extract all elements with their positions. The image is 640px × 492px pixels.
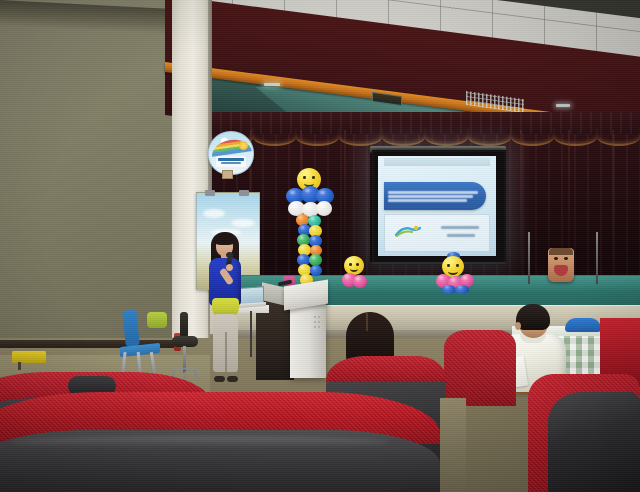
smiley-mouth bbox=[350, 266, 358, 272]
floor-object-leg bbox=[18, 362, 21, 370]
balloon-column bbox=[286, 168, 334, 293]
slide-header-bar bbox=[384, 158, 490, 166]
balloon-figure-right bbox=[436, 252, 478, 296]
poster-clip bbox=[239, 190, 249, 196]
balloon-basket bbox=[222, 170, 233, 179]
podium-vent bbox=[314, 316, 316, 318]
curtain-fold bbox=[612, 130, 614, 295]
presenter bbox=[196, 232, 254, 382]
stool-back bbox=[180, 312, 188, 338]
slide-title-line bbox=[388, 199, 467, 202]
audience-hair-part bbox=[366, 313, 368, 331]
cutout-eye bbox=[554, 257, 558, 260]
cutout-hair bbox=[549, 248, 573, 255]
balloon-pink bbox=[353, 275, 367, 288]
cutout-mouth bbox=[554, 265, 568, 276]
podium-vent bbox=[318, 321, 320, 323]
podium-vent bbox=[318, 316, 320, 318]
smiley-balloon-head bbox=[344, 256, 364, 275]
auditorium-seat bbox=[528, 374, 640, 492]
presenter-fringe bbox=[214, 233, 235, 245]
mic-stand bbox=[596, 232, 598, 284]
scallop bbox=[597, 128, 640, 146]
smiley-eye bbox=[303, 176, 306, 179]
scallop bbox=[382, 128, 425, 146]
presenter-shoe bbox=[227, 376, 238, 382]
scallop bbox=[296, 128, 339, 146]
podium-body bbox=[290, 300, 326, 378]
poster-cloud bbox=[203, 209, 225, 218]
ceiling-light bbox=[556, 104, 570, 107]
seat-shell bbox=[548, 392, 640, 492]
scallop bbox=[468, 128, 511, 146]
presenter-leg-split bbox=[225, 332, 227, 372]
slide-body-line bbox=[447, 234, 475, 237]
slide-title-line bbox=[388, 191, 478, 194]
smiley-eye bbox=[447, 264, 450, 267]
ceiling-light bbox=[264, 83, 280, 86]
screen-surface bbox=[378, 156, 496, 256]
auditorium-seat-row-front bbox=[0, 392, 440, 492]
aisle-floor bbox=[440, 398, 466, 492]
balloon-blue bbox=[442, 285, 456, 294]
projection-screen bbox=[372, 150, 506, 264]
seat-fabric bbox=[326, 356, 446, 382]
audience-hair bbox=[516, 304, 550, 330]
smiley-eye bbox=[456, 264, 459, 267]
seat-fabric bbox=[444, 330, 516, 406]
podium-vent bbox=[318, 326, 320, 328]
logo-text-line bbox=[221, 162, 241, 164]
poster-clip bbox=[205, 190, 215, 196]
scallop bbox=[253, 128, 296, 146]
scallop bbox=[425, 128, 468, 146]
rainbow-swoosh-logo-icon bbox=[395, 225, 421, 237]
presenter-shoe bbox=[214, 376, 225, 382]
balloon-figure-center bbox=[340, 256, 372, 294]
character-cutout bbox=[548, 248, 574, 282]
chair-back bbox=[122, 309, 140, 346]
curtain-scallops bbox=[210, 128, 640, 144]
hot-air-balloon-logo-icon bbox=[208, 131, 254, 175]
podium-vent bbox=[314, 321, 316, 323]
microphone-head bbox=[226, 252, 233, 258]
smiley-eye bbox=[312, 176, 315, 179]
presenter-hand bbox=[226, 264, 233, 271]
podium-vent bbox=[314, 326, 316, 328]
mic-stand bbox=[528, 232, 530, 284]
scallop bbox=[511, 128, 554, 146]
seat-highlight bbox=[10, 436, 390, 448]
smiley-mouth bbox=[448, 268, 458, 275]
balloon-white bbox=[316, 201, 332, 216]
scallop bbox=[554, 128, 597, 146]
poster-cloud bbox=[231, 219, 255, 227]
sun-icon bbox=[239, 141, 248, 150]
slide-body-line bbox=[441, 226, 479, 229]
audience-ear bbox=[515, 322, 521, 330]
slide-title-line bbox=[388, 195, 473, 198]
logo-text-line bbox=[218, 158, 244, 161]
curtain-fold bbox=[520, 130, 522, 295]
balloon-blue bbox=[455, 285, 469, 294]
cutout-eye bbox=[564, 257, 568, 260]
balloon-blue bbox=[310, 265, 322, 276]
slide-body-panel bbox=[384, 214, 490, 252]
slide-title-band bbox=[384, 182, 486, 210]
photo-scene bbox=[0, 0, 640, 492]
